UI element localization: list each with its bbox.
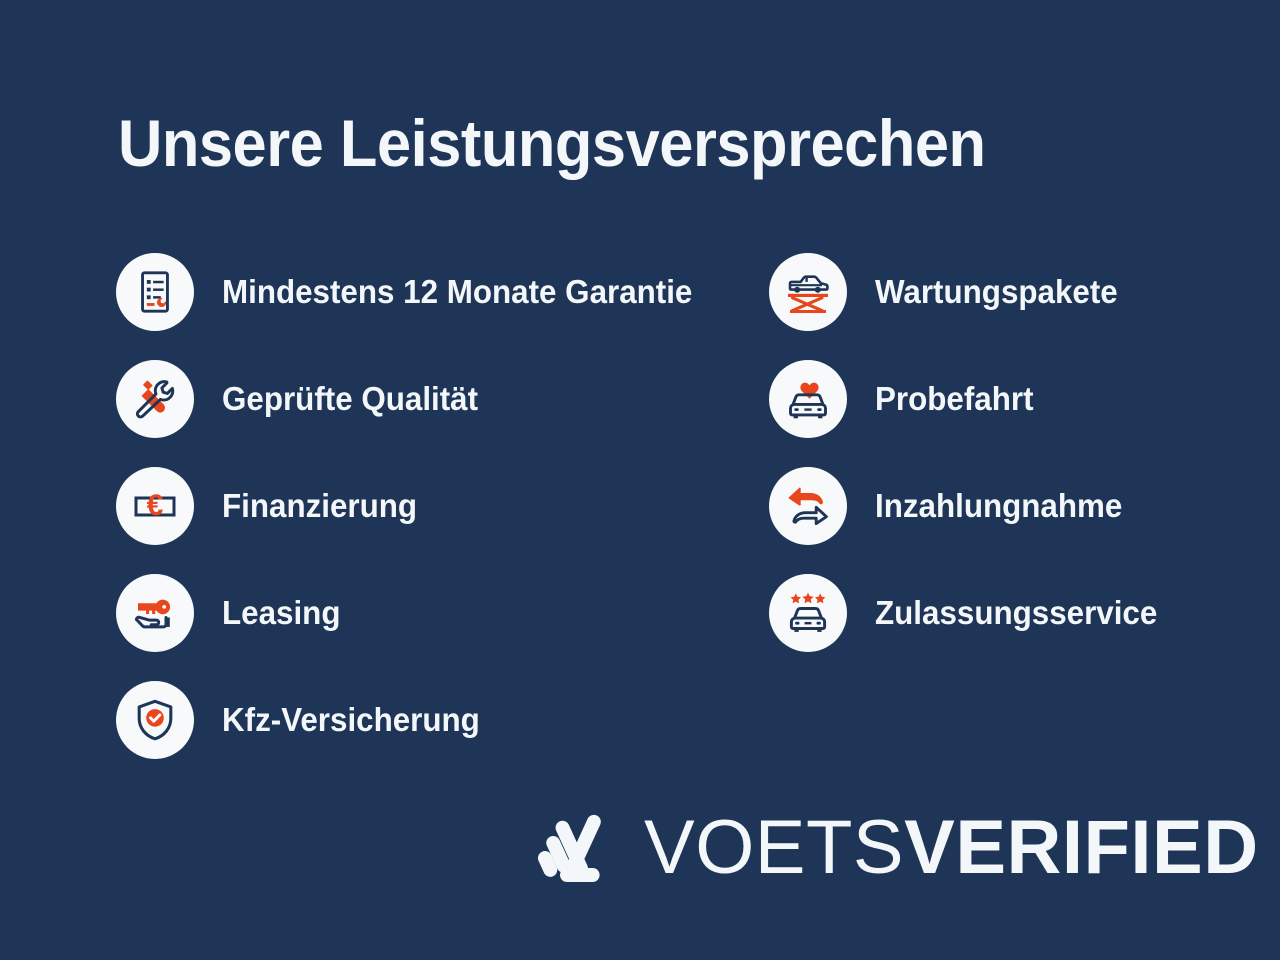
feature-item-garantie: Mindestens 12 Monate Garantie <box>116 253 756 360</box>
feature-label: Zulassungsservice <box>875 574 1157 652</box>
shield-check-icon <box>132 697 178 743</box>
feature-column-left: Mindestens 12 Monate Garantie <box>116 253 756 788</box>
logo-wordmark: VOETSVERIFIED <box>644 805 1259 891</box>
feature-label: Kfz-Versicherung <box>222 681 480 759</box>
svg-text:€: € <box>147 489 164 522</box>
document-checklist-wrench-icon <box>132 269 178 315</box>
feature-icon-badge <box>769 253 847 331</box>
wrench-screwdriver-icon <box>132 376 178 422</box>
voets-verified-logo: VOETSVERIFIED <box>534 802 1259 894</box>
feature-label: Wartungspakete <box>875 253 1118 331</box>
logo-word-voets: VOETS <box>644 805 904 890</box>
car-heart-icon <box>784 375 832 423</box>
page-title: Unsere Leistungsversprechen <box>118 104 1122 182</box>
feature-label: Leasing <box>222 574 340 652</box>
feature-columns: Mindestens 12 Monate Garantie <box>0 253 1280 773</box>
feature-item-zulassungsservice: Zulassungsservice <box>769 574 1249 681</box>
feature-item-leasing: Leasing <box>116 574 756 681</box>
promise-banner: Unsere Leistungsversprechen <box>0 0 1280 960</box>
feature-icon-badge <box>769 360 847 438</box>
feature-item-finanzierung: € Finanzierung <box>116 467 756 574</box>
feature-icon-badge <box>116 360 194 438</box>
voets-v-mark-icon <box>534 805 620 891</box>
exchange-arrows-icon <box>784 482 832 530</box>
feature-label: Mindestens 12 Monate Garantie <box>222 253 692 331</box>
euro-banknote-icon: € <box>131 482 179 530</box>
feature-icon-badge <box>116 574 194 652</box>
key-in-hand-icon <box>131 589 179 637</box>
feature-icon-badge <box>116 681 194 759</box>
feature-item-probefahrt: Probefahrt <box>769 360 1249 467</box>
car-three-stars-icon <box>784 589 832 637</box>
feature-label: Finanzierung <box>222 467 417 545</box>
feature-item-qualitaet: Geprüfte Qualität <box>116 360 756 467</box>
car-on-lift-icon <box>784 268 832 316</box>
feature-icon-badge <box>116 253 194 331</box>
feature-icon-badge: € <box>116 467 194 545</box>
feature-item-inzahlungnahme: Inzahlungnahme <box>769 467 1249 574</box>
feature-icon-badge <box>769 574 847 652</box>
feature-item-kfz-versicherung: Kfz-Versicherung <box>116 681 756 788</box>
feature-label: Probefahrt <box>875 360 1034 438</box>
feature-column-right: Wartungspakete <box>769 253 1249 681</box>
logo-word-verified: VERIFIED <box>904 805 1259 890</box>
feature-icon-badge <box>769 467 847 545</box>
feature-label: Inzahlungnahme <box>875 467 1122 545</box>
feature-label: Geprüfte Qualität <box>222 360 478 438</box>
feature-item-wartungspakete: Wartungspakete <box>769 253 1249 360</box>
